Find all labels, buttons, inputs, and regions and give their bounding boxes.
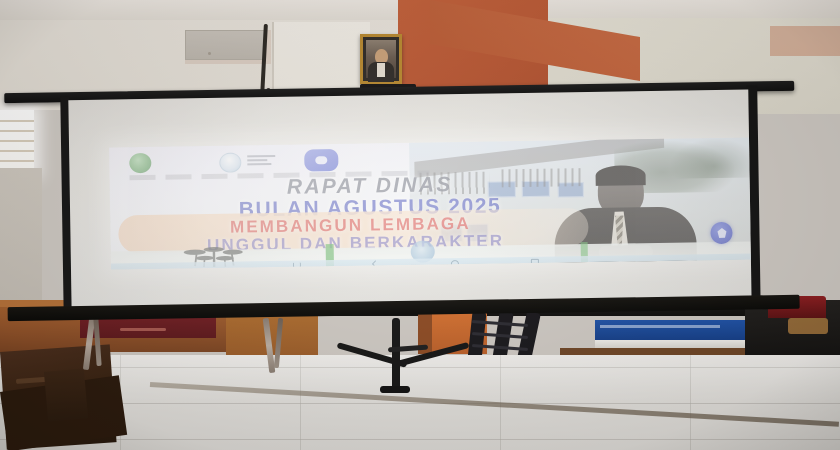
screen-surface: RAPAT DINAS BULAN AGUSTUS 2025 MEMBANGUN… xyxy=(68,90,751,315)
logo-text-lines xyxy=(247,155,275,168)
blue-app-badge-logo xyxy=(304,149,338,172)
portrait-shirt xyxy=(377,63,385,77)
tripod-center-post xyxy=(392,318,400,390)
blue-banner-text xyxy=(600,325,720,328)
tan-object-right xyxy=(788,318,828,334)
person-hair xyxy=(595,165,645,186)
recents-icon[interactable] xyxy=(531,259,539,266)
blue-banner xyxy=(595,320,745,340)
chair-backrest xyxy=(44,368,88,421)
back-icon[interactable] xyxy=(372,260,379,267)
white-blue-emblem-logo xyxy=(219,152,241,172)
tripod-foot xyxy=(380,386,410,393)
tripod-projection-screen[interactable]: RAPAT DINAS BULAN AGUSTUS 2025 MEMBANGUN… xyxy=(8,89,791,319)
chevron-down-icon[interactable] xyxy=(293,263,301,269)
maroon-bench-highlight xyxy=(120,328,166,331)
wall-orange-right-edge xyxy=(770,26,840,56)
slide-logo-row xyxy=(129,148,379,174)
framed-portrait xyxy=(360,34,402,84)
wood-ledge xyxy=(560,348,760,355)
portrait-photo xyxy=(366,40,396,78)
wall-speaker xyxy=(185,30,265,60)
room-photo-scene: RAPAT DINAS BULAN AGUSTUS 2025 MEMBANGUN… xyxy=(0,0,840,450)
green-emblem-logo xyxy=(129,153,151,173)
projected-slide: RAPAT DINAS BULAN AGUSTUS 2025 MEMBANGUN… xyxy=(109,138,751,270)
home-icon[interactable] xyxy=(451,260,459,267)
speaker-led-icon xyxy=(208,52,211,55)
